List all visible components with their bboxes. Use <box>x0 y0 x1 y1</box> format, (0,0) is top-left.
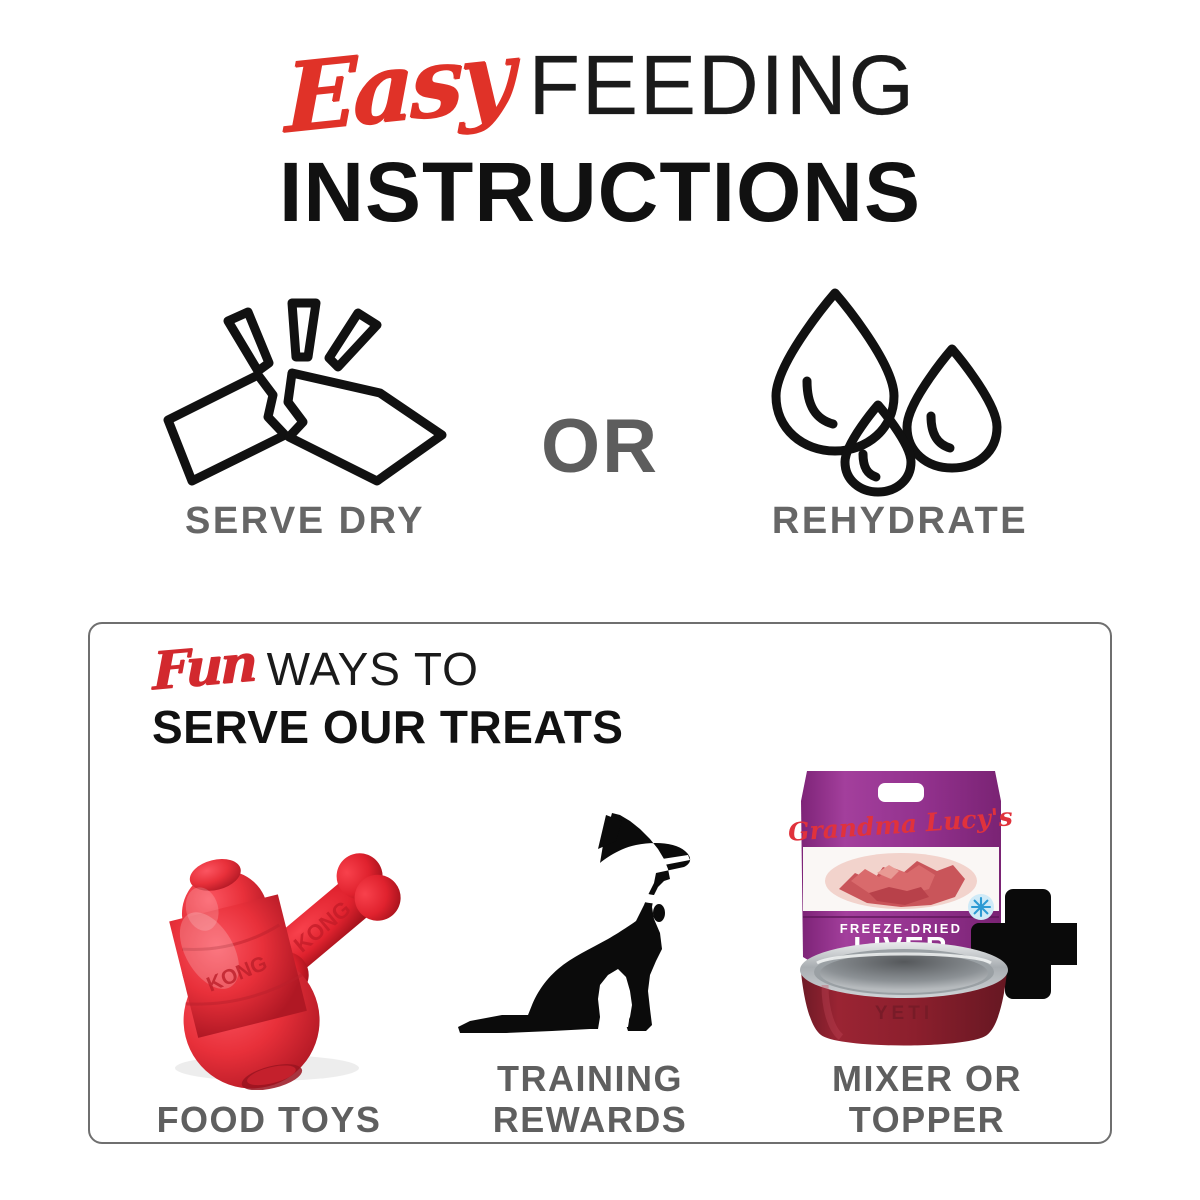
method-rehydrate: REHYDRATE <box>690 285 1110 585</box>
snowflake-icon <box>968 894 994 920</box>
panel-cards: KONG <box>90 760 1114 1140</box>
card-mixer-or-topper: Grandma Lucy's FREEZE- <box>762 760 1092 1140</box>
panel-heading-line-1: Fun WAYS TO <box>152 642 712 700</box>
sitting-dog-icon <box>425 779 755 1049</box>
kong-toy-icon: KONG <box>104 820 434 1090</box>
panel-script-fun: Fun <box>152 637 254 698</box>
pouch-and-bowl-svg: Grandma Lucy's FREEZE- <box>777 761 1077 1051</box>
card-label-mixer-or-topper: MIXER OR TOPPER <box>832 1059 1022 1140</box>
water-drops-svg <box>735 285 1065 500</box>
feeding-methods-row: SERVE DRY OR REHYDRATE <box>0 285 1200 585</box>
page-header: Easy FEEDING INSTRUCTIONS <box>0 0 1200 280</box>
title-word-feeding: FEEDING <box>529 43 916 127</box>
card-food-toys: KONG <box>104 760 434 1140</box>
fun-ways-panel: Fun WAYS TO SERVE OUR TREATS <box>88 622 1112 1144</box>
title-line-1: Easy FEEDING <box>284 34 916 144</box>
pouch-and-bowl-icon: Grandma Lucy's FREEZE- <box>762 779 1092 1049</box>
method-label-rehydrate: REHYDRATE <box>772 500 1028 543</box>
card-label-training-rewards: TRAINING REWARDS <box>493 1059 688 1140</box>
card-label-food-toys: FOOD TOYS <box>157 1100 382 1140</box>
yeti-bowl: YETI <box>800 942 1008 1046</box>
sitting-dog-svg <box>440 799 740 1049</box>
panel-word-ways-to: WAYS TO <box>267 646 479 692</box>
panel-heading: Fun WAYS TO SERVE OUR TREATS <box>152 642 712 750</box>
title-script-easy: Easy <box>285 28 510 147</box>
method-label-serve-dry: SERVE DRY <box>185 500 425 543</box>
title-word-instructions: INSTRUCTIONS <box>279 150 921 234</box>
panel-word-serve-our-treats: SERVE OUR TREATS <box>152 704 712 750</box>
water-drops-icon <box>735 285 1065 500</box>
kong-toy-svg: KONG <box>119 840 419 1090</box>
card-training-rewards: TRAINING REWARDS <box>425 760 755 1140</box>
bowl-brand-text: YETI <box>875 1003 933 1024</box>
